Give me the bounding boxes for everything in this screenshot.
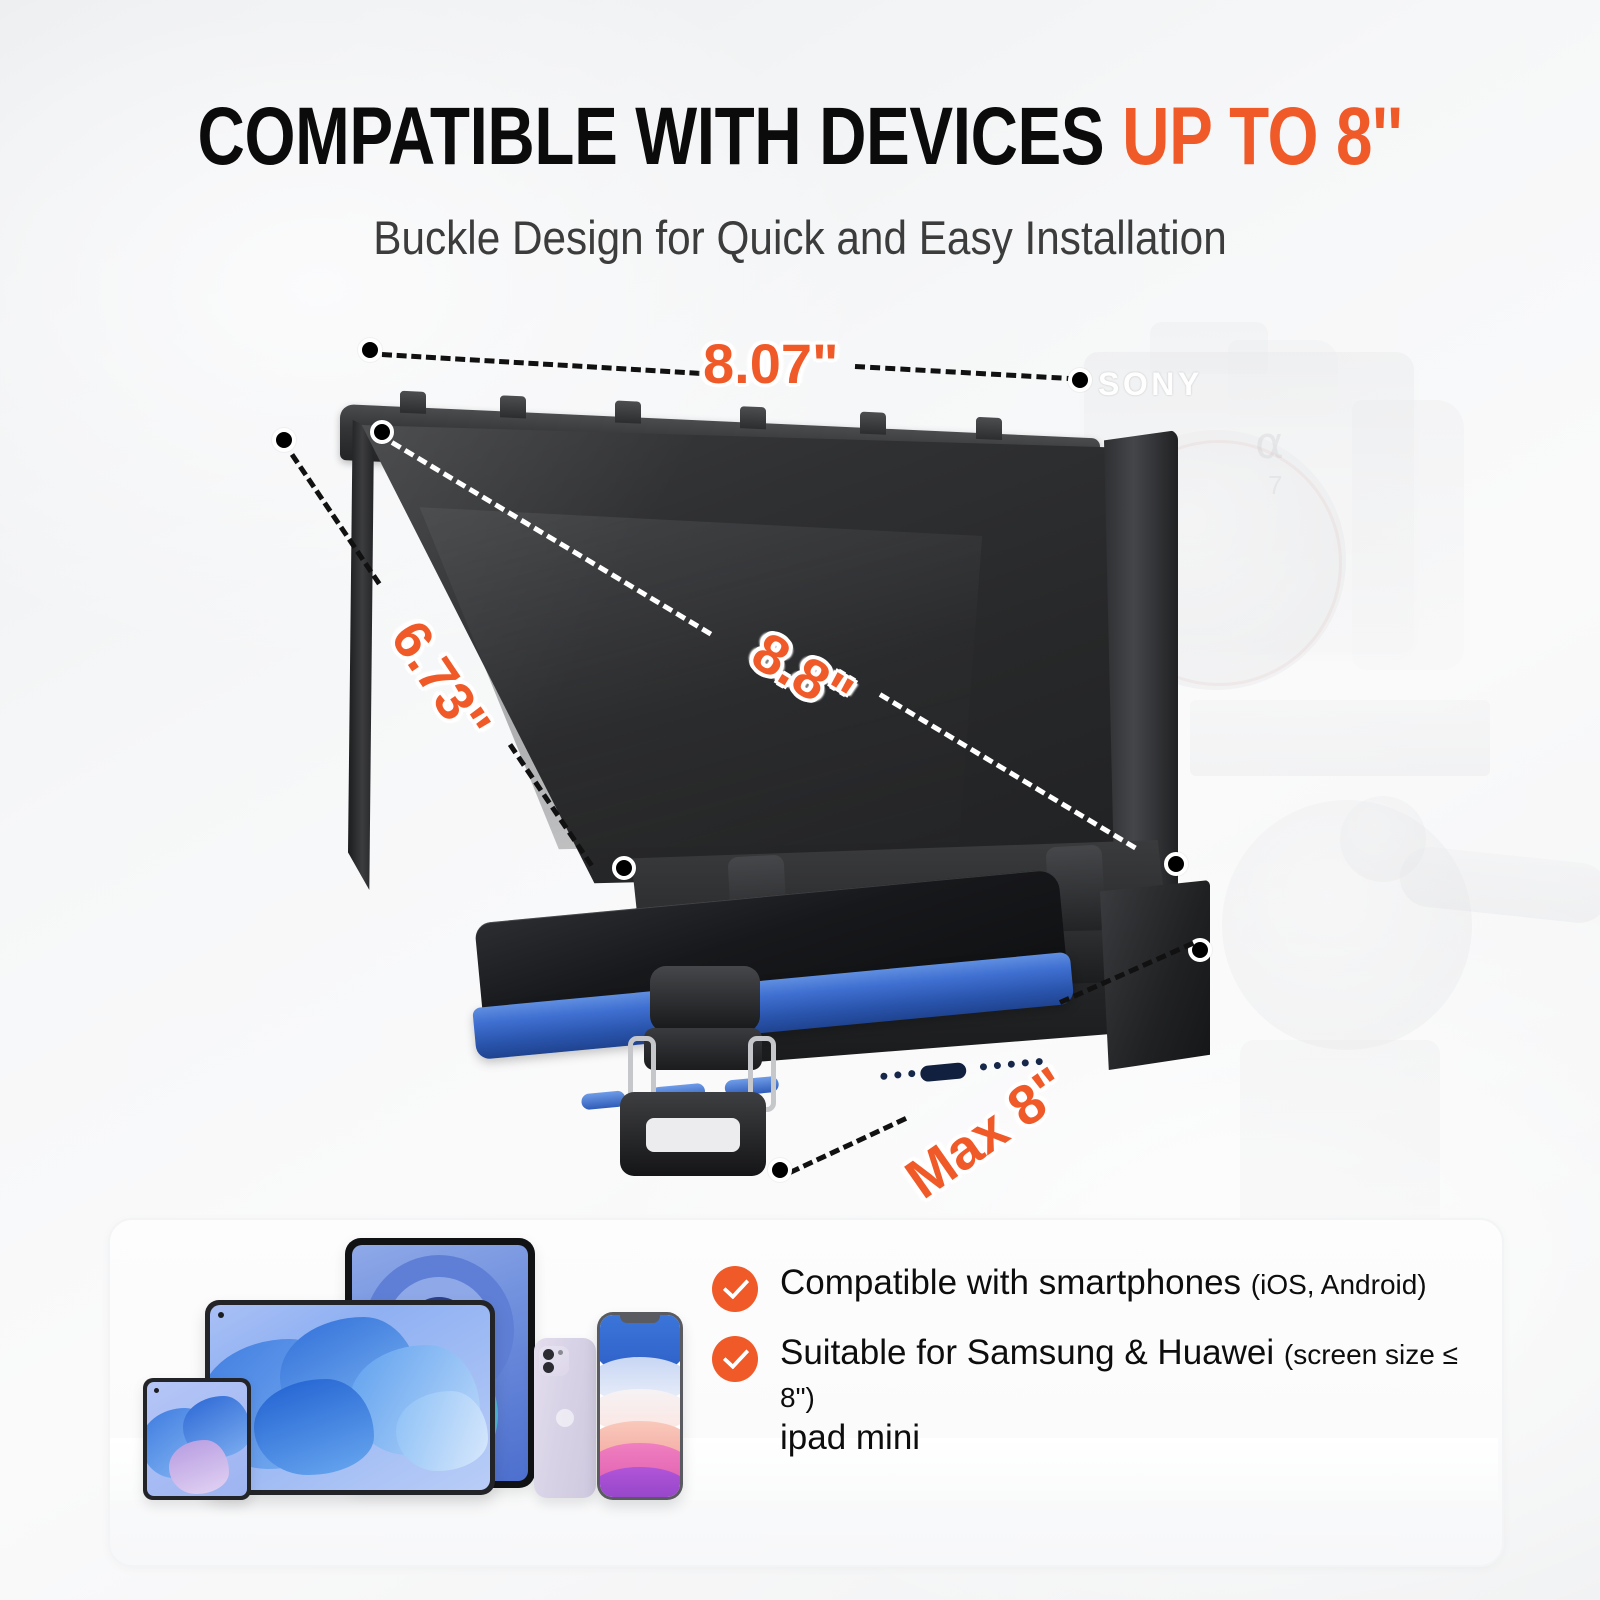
feature-list: Compatible with smartphones (iOS, Androi… [712,1262,1472,1480]
feature-extra-ipad-mini: ipad mini [780,1418,920,1457]
feature-text-samsung-huawei: Suitable for Samsung & Huawei (screen si… [780,1332,1472,1460]
dim-dot-max-left [768,1158,792,1182]
infographic-canvas: COMPATIBLE WITH DEVICES UP TO 8'' Buckle… [0,0,1600,1600]
feature-row-samsung-huawei: Suitable for Samsung & Huawei (screen si… [712,1332,1472,1460]
buckle-clamp[interactable] [610,966,800,1166]
huawei-small-tablet [143,1378,251,1500]
feature-row-smartphones: Compatible with smartphones (iOS, Androi… [712,1262,1472,1312]
iphone-11-front [597,1312,683,1500]
dim-dot-width-left [358,338,382,362]
beam-splitter-frame-left [348,420,374,890]
dim-dot-depth-top [272,428,296,452]
feature-main-samsung-huawei: Suitable for Samsung & Huawei [780,1333,1284,1372]
dim-dot-depth-bottom [612,856,636,880]
clamp-top-block [650,966,760,1032]
clamp-buckle-opening [646,1118,740,1152]
smartphone-charging-port [920,1062,967,1082]
clamp-mid-block [644,1028,762,1070]
iphone-logo [556,1409,574,1427]
check-circle-icon [712,1336,758,1382]
feature-sub-smartphones: (iOS, Android) [1251,1269,1427,1300]
iphone-notch [620,1312,660,1323]
feature-text-smartphones: Compatible with smartphones (iOS, Androi… [780,1262,1427,1305]
dimension-label-width: 8.07" [703,331,839,396]
dim-dot-width-right [1068,368,1092,392]
iphone-back [534,1338,596,1498]
iphone-11-screen [600,1315,680,1497]
check-circle-icon [712,1266,758,1312]
huawei-small-tablet-screen [147,1382,247,1496]
feature-main-smartphones: Compatible with smartphones [780,1263,1251,1302]
dim-dot-diagonal-start [370,420,394,444]
beam-splitter-reflection [408,500,988,860]
iphone-camera-module [539,1346,569,1376]
huawei-matepad-screen [210,1305,490,1490]
dim-dot-diagonal-end [1164,852,1188,876]
